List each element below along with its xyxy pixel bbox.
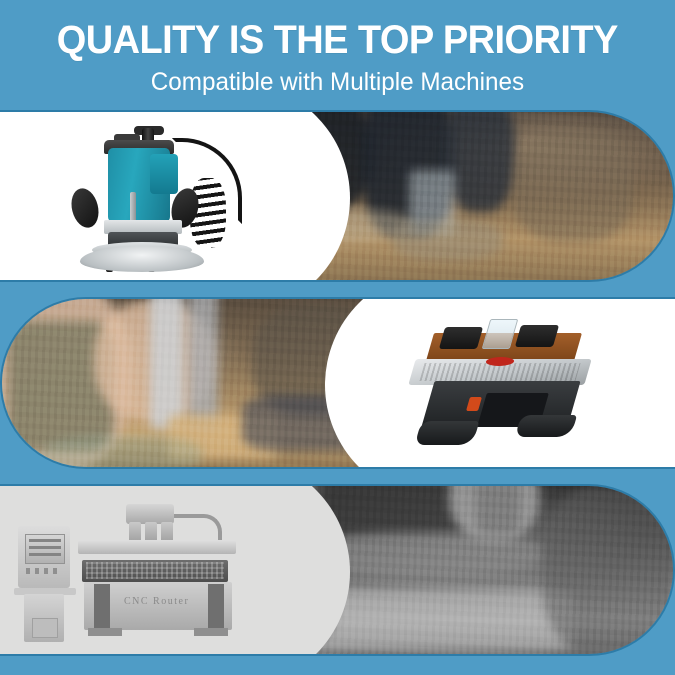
page-title: QUALITY IS THE TOP PRIORITY [57, 18, 618, 62]
row-cnc-machines: CNC Router CNC MACHINES Not compatible w… [0, 484, 675, 656]
header: QUALITY IS THE TOP PRIORITY Compatible w… [0, 0, 675, 108]
product-plunge-router [62, 126, 262, 276]
page-subtitle: Compatible with Multiple Machines [151, 66, 524, 98]
row-table-mounted-router: TABLE-MOUNTED ROUTER [0, 297, 675, 469]
row-hand-held-router: HAND-HELD ROUTER [0, 110, 675, 282]
cnc-body-label: CNC Router [124, 596, 189, 607]
infographic-page: QUALITY IS THE TOP PRIORITY Compatible w… [0, 0, 675, 675]
product-cnc-router: CNC Router [0, 498, 266, 648]
product-router-table [406, 313, 602, 457]
